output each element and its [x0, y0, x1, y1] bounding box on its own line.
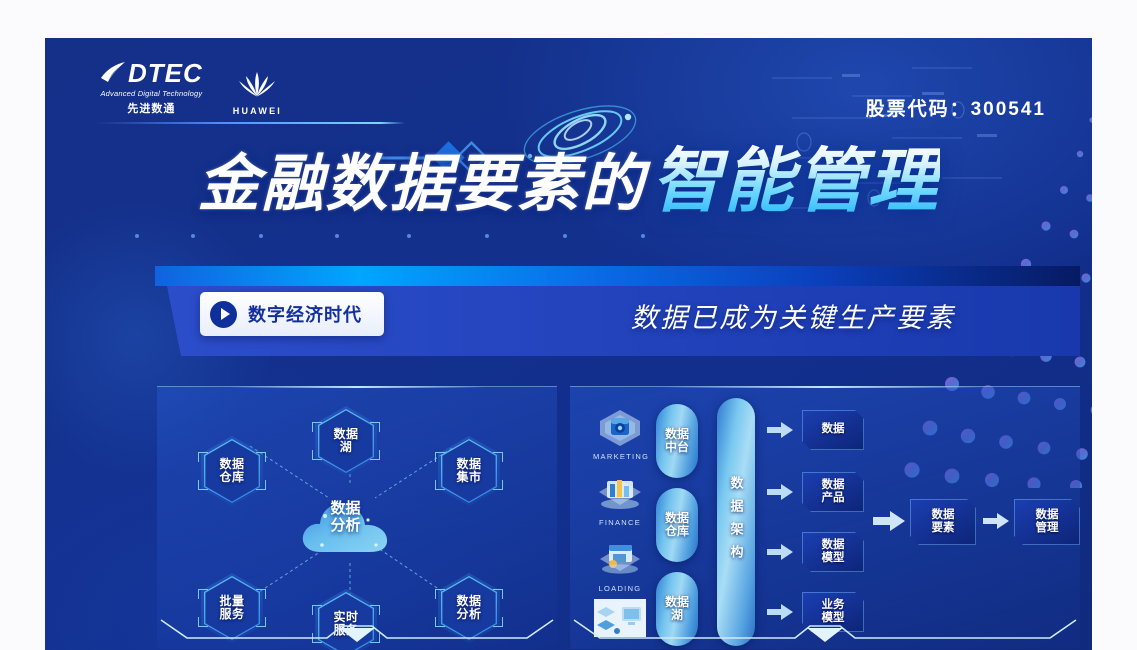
dtec-wordmark: DTEC — [128, 60, 203, 86]
marketing-cube-icon — [593, 406, 647, 446]
node-data-lake[interactable]: 数据湖 — [315, 406, 377, 476]
stock-code-label: 股票代码：300541 — [866, 94, 1046, 121]
output-data-model[interactable]: 数据模型 — [802, 532, 864, 572]
architecture-pillar[interactable]: 数据架构 — [717, 398, 755, 646]
arrow-to-result — [983, 513, 1009, 529]
source-marketing-label: MARKETING — [593, 452, 647, 461]
node-label-line1: 数据 — [333, 427, 358, 441]
output-data-product[interactable]: 数据产品 — [802, 472, 864, 512]
banner-headline: 数据已成为关键生产要素 — [533, 296, 1053, 335]
arrow-to-aggregate — [873, 511, 905, 531]
layer-label-line1: 数据 — [665, 511, 689, 525]
slide-title-part2: 智能管理 — [646, 142, 940, 220]
source-finance[interactable]: FINANCE — [593, 472, 647, 527]
right-panel-bottom-border — [570, 612, 1080, 646]
right-panel-topglow — [662, 386, 988, 388]
layer-data-warehouse[interactable]: 数据仓库 — [656, 488, 698, 562]
huawei-flower-icon — [236, 71, 278, 99]
architecture-label: 数据架构 — [727, 476, 746, 568]
layer-data-midplatform[interactable]: 数据中台 — [656, 404, 698, 478]
node-label-line1: 数据 — [219, 457, 244, 471]
output-label-line1: 数据 — [822, 423, 845, 435]
node-label-line1: 批量 — [219, 594, 244, 608]
layer-label-line1: 数据 — [665, 595, 689, 609]
output-label-line1: 数据 — [822, 539, 845, 551]
slide-title-part1: 金融数据要素的 — [197, 150, 645, 219]
banner-gradient-strip — [155, 266, 1080, 286]
output-label-line2: 产品 — [822, 492, 845, 504]
aggregate-label-line1: 数据 — [932, 509, 955, 521]
play-icon — [210, 301, 237, 328]
output-label-line1: 业务 — [822, 599, 845, 611]
node-label-line2: 集市 — [456, 470, 481, 484]
section-tag-pill[interactable]: 数字经济时代 — [200, 292, 384, 336]
huawei-wordmark: HUAWEI — [233, 106, 282, 116]
cloud-label-line1: 数据 — [330, 500, 360, 517]
node-label-line1: 数据 — [456, 594, 481, 608]
logo-group: DTEC Advanced Digital Technology 先进数通 HU… — [100, 60, 282, 116]
dtec-tagline: Advanced Digital Technology — [100, 89, 203, 98]
aggregate-label-line2: 要素 — [932, 522, 955, 534]
huawei-logo: HUAWEI — [233, 71, 282, 116]
source-loading[interactable]: LOADING — [593, 538, 647, 593]
node-label-line1: 数据 — [456, 457, 481, 471]
source-marketing[interactable]: MARKETING — [593, 406, 647, 461]
arrow-to-output-1 — [767, 422, 793, 438]
aggregate-data-element[interactable]: 数据要素 — [910, 499, 976, 545]
output-label-line1: 数据 — [822, 479, 845, 491]
source-finance-label: FINANCE — [593, 518, 647, 527]
arrow-to-output-2 — [767, 484, 793, 500]
section-banner: 数字经济时代 数据已成为关键生产要素 — [155, 266, 1080, 366]
finance-chart-icon — [593, 472, 647, 512]
logo-underline — [95, 122, 405, 124]
output-data[interactable]: 数据 — [802, 410, 864, 450]
loading-server-icon — [593, 538, 647, 578]
output-label-line2: 模型 — [822, 552, 845, 564]
cloud-label-line2: 分析 — [330, 517, 360, 534]
dtec-chinese-name: 先进数通 — [100, 100, 203, 116]
dtec-logo: DTEC Advanced Digital Technology 先进数通 — [100, 60, 203, 116]
layer-label-line2: 仓库 — [665, 524, 689, 538]
slide-canvas: DTEC Advanced Digital Technology 先进数通 HU… — [45, 38, 1092, 650]
result-label-line1: 数据 — [1036, 509, 1059, 521]
node-label-line2: 湖 — [340, 440, 353, 454]
slide-title: 金融数据要素的智能管理 — [45, 146, 1092, 216]
dtec-mark-icon — [100, 62, 126, 84]
dot-row-decoration — [135, 234, 695, 244]
cloud-center-label: 数据分析 — [298, 500, 393, 535]
section-tag-label: 数字经济时代 — [248, 301, 362, 327]
layer-label-line2: 中台 — [665, 440, 689, 454]
result-label-line2: 管理 — [1036, 522, 1059, 534]
layer-label-line1: 数据 — [665, 427, 689, 441]
left-panel-bottom-border — [157, 612, 557, 646]
node-data-mart[interactable]: 数据集市 — [438, 436, 500, 506]
arrow-to-output-3 — [767, 544, 793, 560]
node-label-line2: 仓库 — [219, 470, 244, 484]
node-data-warehouse[interactable]: 数据仓库 — [201, 436, 263, 506]
source-loading-label: LOADING — [593, 584, 647, 593]
result-data-governance[interactable]: 数据管理 — [1014, 499, 1080, 545]
